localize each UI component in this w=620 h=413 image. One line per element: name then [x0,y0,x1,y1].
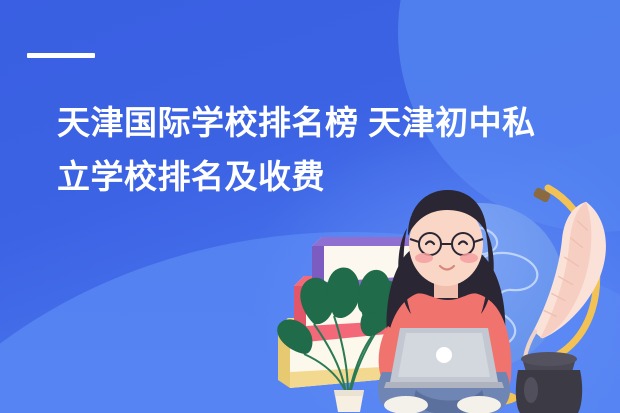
laptop-logo [436,347,452,363]
laptop [384,328,504,388]
right-blush [460,253,478,263]
plant-pot-rim [334,390,364,396]
student-studying-illustration [276,176,620,413]
inkwell-highlight [524,377,538,403]
title-divider-rule [27,53,95,58]
left-blush [415,253,433,263]
promo-banner: 天津国际学校排名榜 天津初中私立学校排名及收费 [0,0,620,413]
laptop-base [384,382,504,388]
inkwell-mouth [521,352,577,366]
